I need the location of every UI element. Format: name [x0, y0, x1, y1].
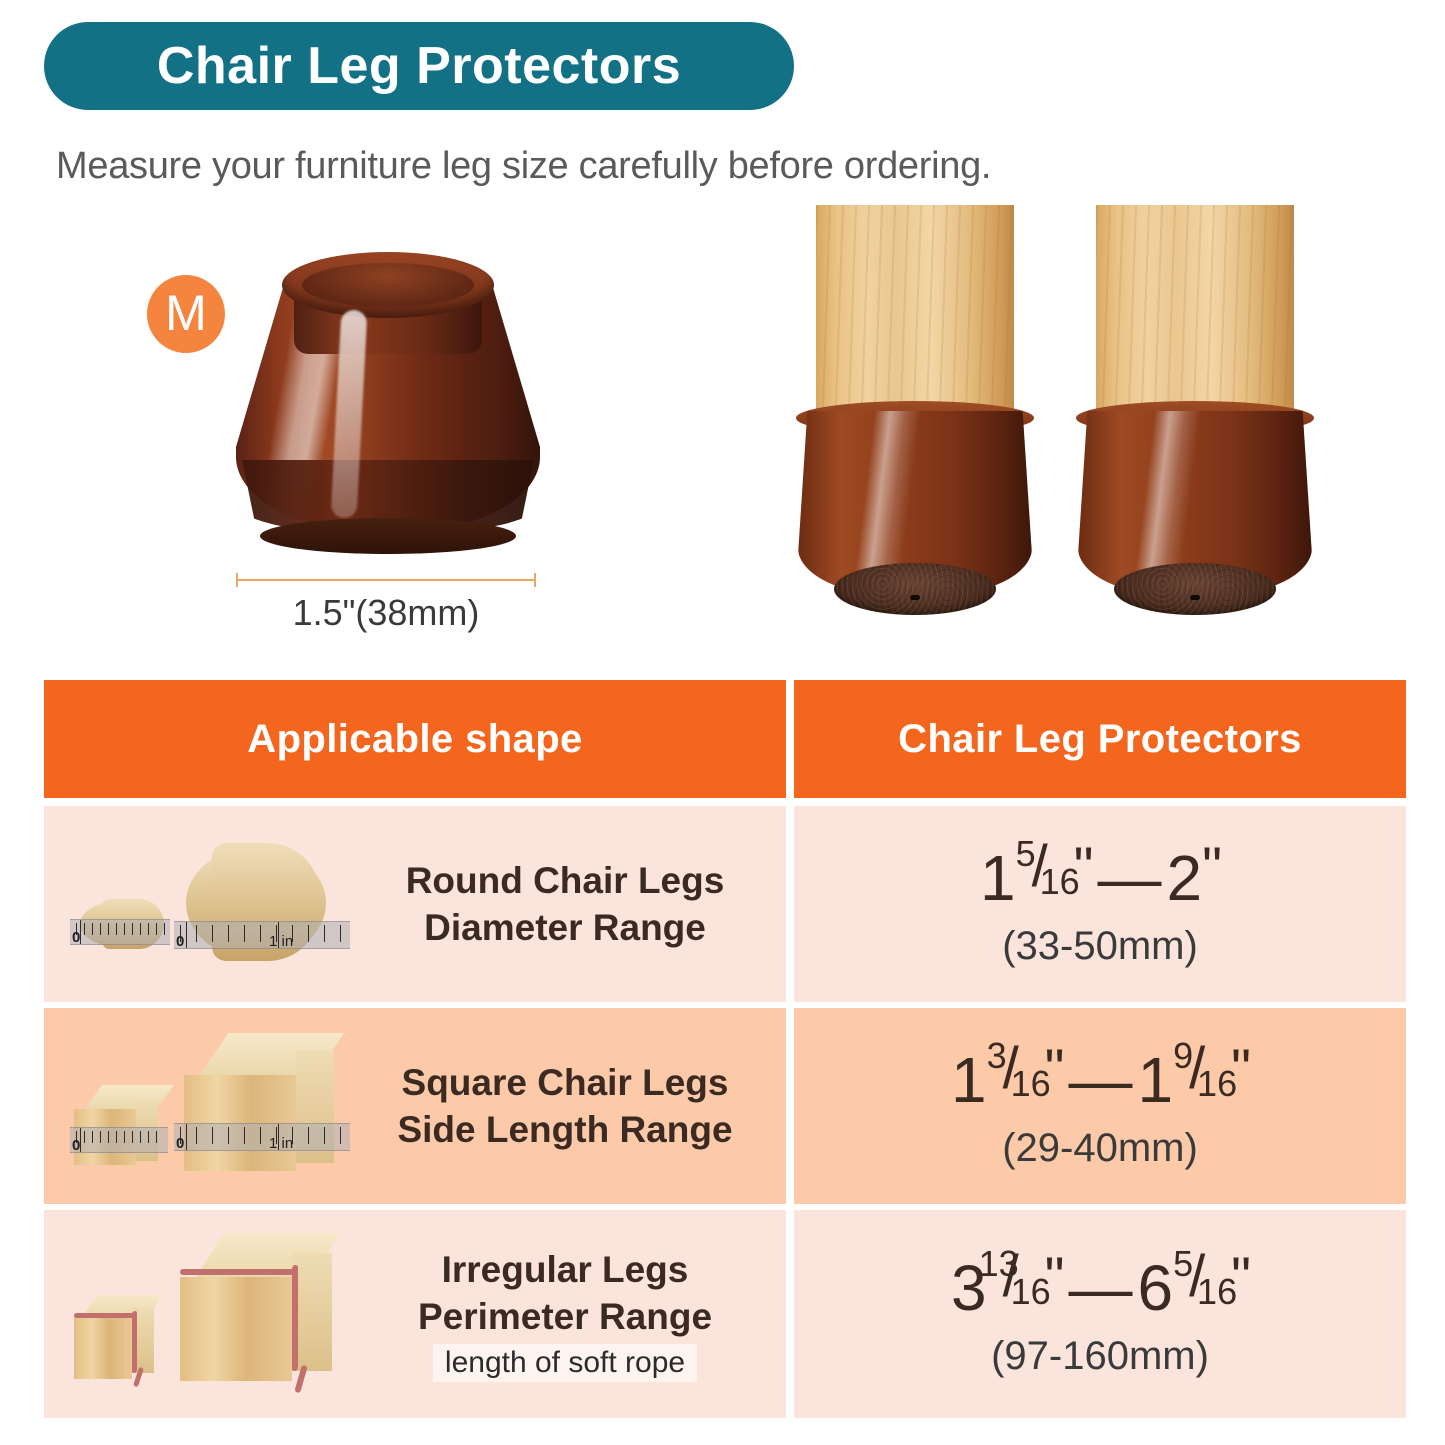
value-mm-square: (29-40mm)	[1002, 1126, 1198, 1171]
page-title-pill: Chair Leg Protectors	[44, 22, 794, 110]
rope-note: length of soft rope	[433, 1344, 697, 1382]
felt-hole	[1190, 595, 1200, 600]
felt-pad	[1114, 563, 1276, 615]
chair-leg-right	[1070, 205, 1320, 635]
value-mm-round: (33-50mm)	[1002, 924, 1198, 969]
felt-texture	[834, 563, 996, 615]
dimension-tick-right	[534, 573, 536, 587]
irregular-block-rope-icon	[62, 1219, 362, 1409]
chair-leg-left	[790, 205, 1040, 635]
dimension-tick-left	[236, 573, 238, 587]
cap-foot	[260, 518, 516, 554]
dimension-line	[236, 573, 536, 587]
table-header-protectors: Chair Leg Protectors	[794, 680, 1406, 798]
table-header-shape-label: Applicable shape	[247, 717, 582, 762]
page-title: Chair Leg Protectors	[157, 36, 681, 96]
fraction-1: 5/16	[1016, 840, 1074, 904]
fraction-1: 3/16	[987, 1042, 1045, 1106]
cap-rim-inner	[302, 263, 474, 307]
dimension-label: 1.5"(38mm)	[236, 592, 536, 634]
table-row-value-irregular: 313/16"—65/16" (97-160mm)	[794, 1210, 1406, 1418]
value-mm-irregular: (97-160mm)	[991, 1334, 1209, 1379]
shape-text-irregular: Irregular Legs Perimeter Range length of…	[362, 1246, 786, 1383]
fraction-2: 9/16	[1173, 1042, 1231, 1106]
fraction-2: 5/16	[1173, 1250, 1231, 1314]
shape-text-square: Square Chair Legs Side Length Range	[362, 1059, 786, 1154]
value-inches-round: 15/16"—2"	[980, 839, 1220, 910]
size-badge-label: M	[165, 288, 207, 338]
table-row-shape-round: 0 0 1 in Round Chair Legs Diameter Range	[44, 806, 786, 1002]
round-dowel-ruler-icon: 0 0 1 in	[62, 809, 362, 999]
chair-legs-photo	[780, 205, 1400, 635]
felt-texture	[1114, 563, 1276, 615]
size-table: Applicable shape Chair Leg Protectors 0 …	[44, 680, 1406, 1420]
value-inches-square: 13/16"—19/16"	[951, 1041, 1249, 1112]
page-subtitle: Measure your furniture leg size carefull…	[56, 145, 991, 188]
value-inches-irregular: 313/16"—65/16"	[951, 1249, 1249, 1320]
felt-pad	[834, 563, 996, 615]
felt-hole	[910, 595, 920, 600]
table-row-shape-square: 0 0 1 in Square Chair Legs Side Length R…	[44, 1008, 786, 1204]
shape-text-round: Round Chair Legs Diameter Range	[362, 857, 786, 952]
fraction-1: 13/16	[987, 1250, 1045, 1314]
table-header-shape: Applicable shape	[44, 680, 786, 798]
product-cap-photo	[228, 230, 548, 560]
table-row-value-round: 15/16"—2" (33-50mm)	[794, 806, 1406, 1002]
table-header-protectors-label: Chair Leg Protectors	[898, 717, 1302, 762]
square-block-ruler-icon: 0 0 1 in	[62, 1011, 362, 1201]
table-row-value-square: 13/16"—19/16" (29-40mm)	[794, 1008, 1406, 1204]
table-row-shape-irregular: Irregular Legs Perimeter Range length of…	[44, 1210, 786, 1418]
size-badge-m: M	[147, 275, 225, 353]
dimension-bar	[236, 579, 536, 581]
